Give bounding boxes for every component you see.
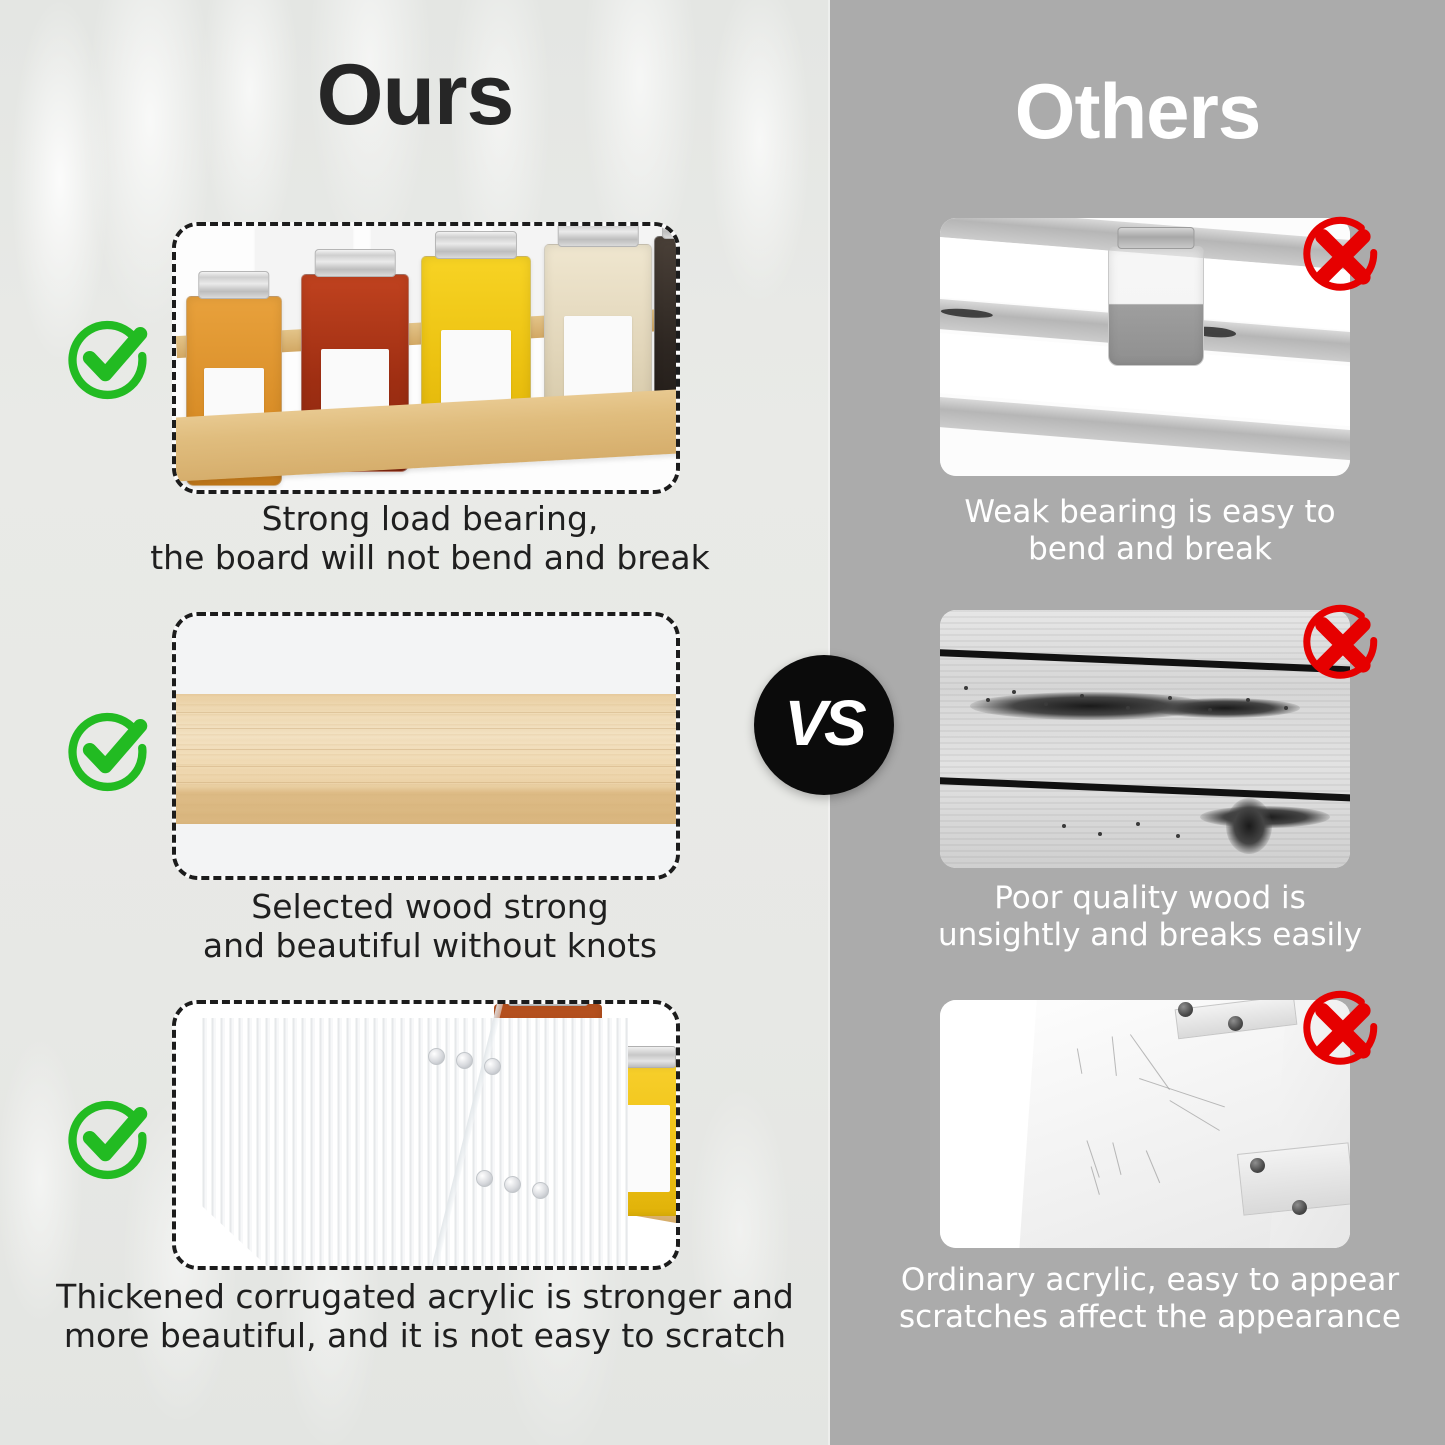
knotty-wood-photo xyxy=(940,610,1350,868)
others-image-weak-bearing xyxy=(940,218,1350,476)
x-circle-icon xyxy=(1298,986,1386,1074)
others-caption-weak-bearing: Weak bearing is easy to bend and break xyxy=(900,494,1400,567)
caption-line: the board will not bend and break xyxy=(130,539,730,578)
check-circle-icon xyxy=(64,310,156,402)
caption-line: more beautiful, and it is not easy to sc… xyxy=(55,1317,795,1356)
caption-line: and beautiful without knots xyxy=(130,927,730,966)
ours-image-corrugated-acrylic xyxy=(172,1000,680,1270)
caption-line: scratches affect the appearance xyxy=(875,1299,1425,1336)
others-image-scratched-acrylic xyxy=(940,1000,1350,1248)
check-circle-icon xyxy=(64,1090,156,1182)
others-caption-scratched-acrylic: Ordinary acrylic, easy to appear scratch… xyxy=(875,1262,1425,1335)
comparison-infographic: Ours Others xyxy=(0,0,1445,1445)
caption-line: Weak bearing is easy to xyxy=(900,494,1400,531)
ours-image-load-bearing xyxy=(172,222,680,494)
caption-line: Poor quality wood is xyxy=(890,880,1410,917)
others-image-poor-wood xyxy=(940,610,1350,868)
ours-image-selected-wood xyxy=(172,612,680,880)
scratched-acrylic-photo xyxy=(940,1000,1350,1248)
vs-badge: VS xyxy=(754,655,894,795)
x-circle-icon xyxy=(1298,600,1386,688)
caption-line: Selected wood strong xyxy=(130,888,730,927)
x-circle-icon xyxy=(1298,212,1386,300)
ours-title: Ours xyxy=(0,52,830,138)
ours-caption-corrugated-acrylic: Thickened corrugated acrylic is stronger… xyxy=(55,1278,795,1356)
caption-line: Thickened corrugated acrylic is stronger… xyxy=(55,1278,795,1317)
check-circle-icon xyxy=(64,702,156,794)
ours-caption-selected-wood: Selected wood strong and beautiful witho… xyxy=(130,888,730,966)
caption-line: Strong load bearing, xyxy=(130,500,730,539)
corrugated-acrylic-photo xyxy=(176,1004,676,1266)
sagging-shelf-photo xyxy=(940,218,1350,476)
others-caption-poor-wood: Poor quality wood is unsightly and break… xyxy=(890,880,1410,953)
vs-label: VS xyxy=(784,686,863,760)
spice-rack-photo xyxy=(176,226,676,490)
caption-line: Ordinary acrylic, easy to appear xyxy=(875,1262,1425,1299)
caption-line: unsightly and breaks easily xyxy=(890,917,1410,954)
caption-line: bend and break xyxy=(900,531,1400,568)
ours-caption-load-bearing: Strong load bearing, the board will not … xyxy=(130,500,730,578)
clean-wood-board-photo xyxy=(176,616,676,876)
others-title: Others xyxy=(830,72,1445,150)
